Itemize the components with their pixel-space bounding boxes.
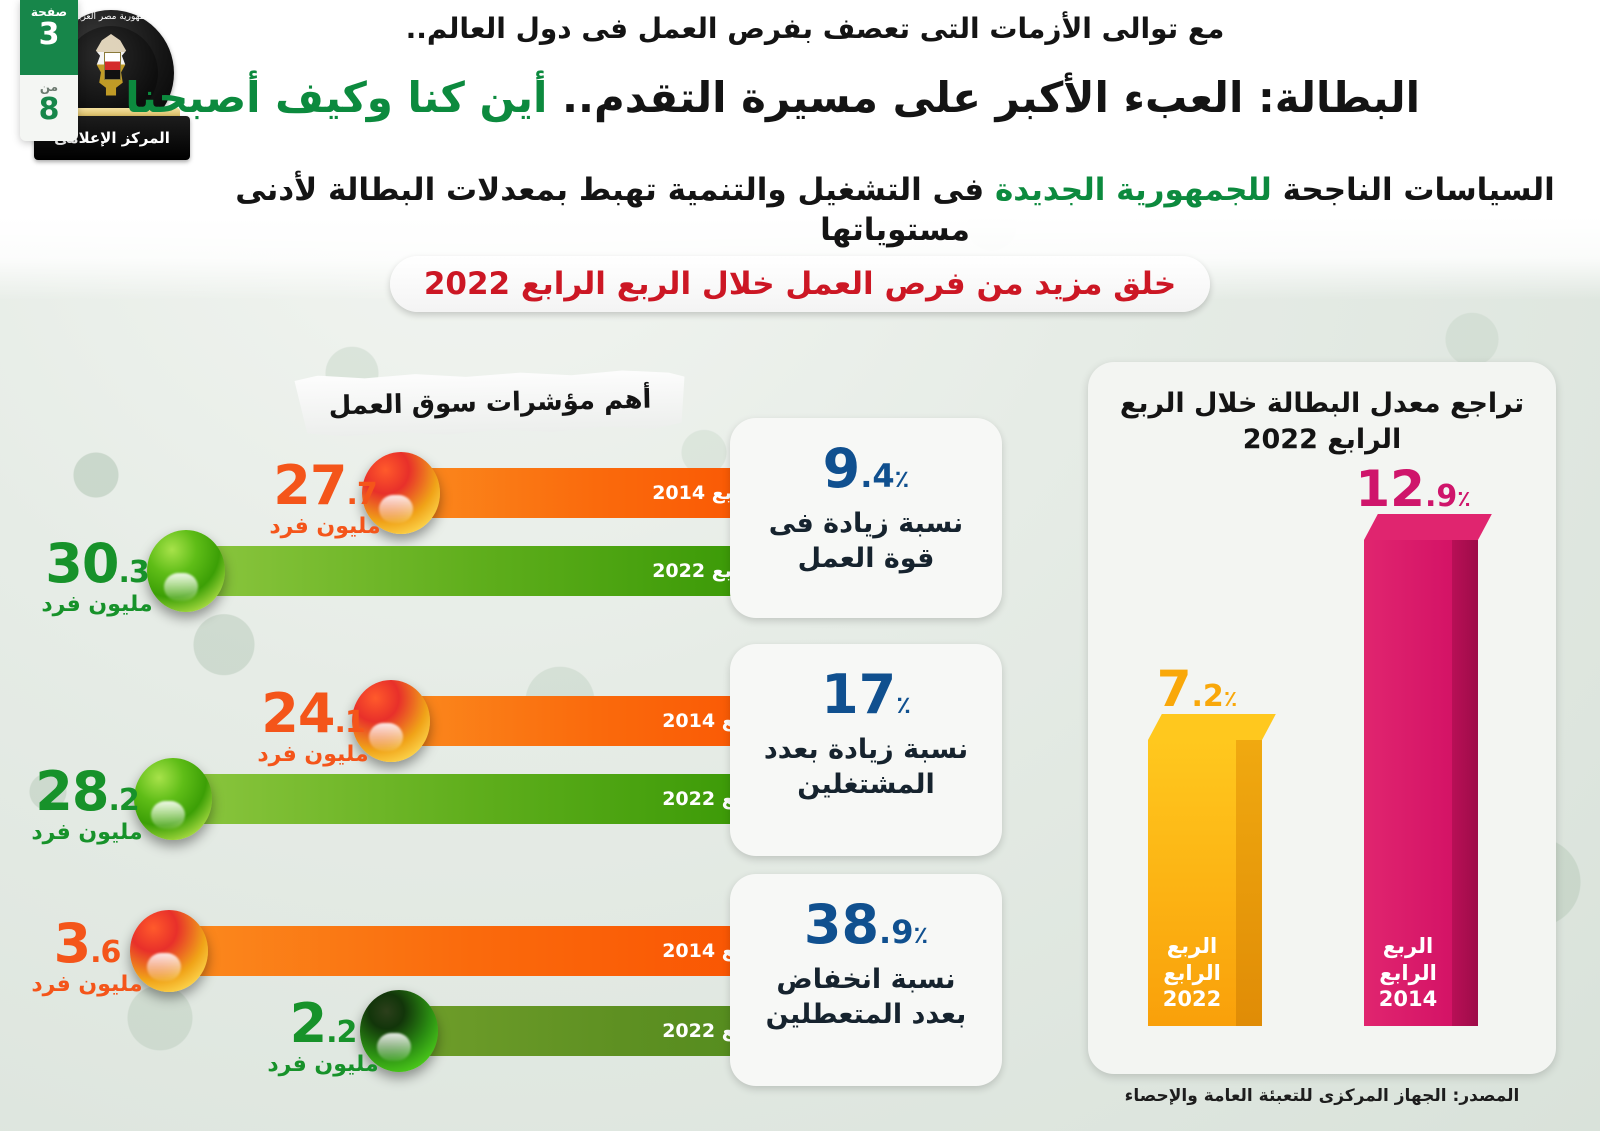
column-2022-value-int: 7 (1157, 660, 1192, 718)
page-badge-bottom: من 8 (20, 75, 78, 141)
stat-card-percent: 9.4٪ (730, 442, 1002, 496)
percent-sign-icon: ٪ (1224, 687, 1237, 712)
value-2014-int: 3 (54, 912, 91, 975)
header: جمهورية مصر العربية المركز الإعلامى مع ت… (0, 0, 1600, 250)
value-2014-dec: .1 (334, 705, 364, 740)
stat-card-description: نسبة زيادة فى قوة العمل (730, 506, 1002, 598)
page-badge-number: 3 (20, 19, 78, 51)
stat-int: 9 (823, 437, 861, 500)
stat-int: 38 (804, 893, 879, 956)
value-2022-number: 28.2 (12, 766, 162, 817)
percent-sign-icon: ٪ (896, 691, 911, 719)
value-2022: 28.2 مليون فرد (12, 766, 162, 845)
column-2022-value-dec: .2 (1192, 679, 1224, 714)
headline-accent: أين كنا وكيف أصبحنا (125, 73, 547, 122)
value-2014-unit: مليون فرد (238, 742, 388, 767)
column-2022-label-line2: 2022 (1163, 987, 1221, 1011)
headline-main: البطالة: العبء الأكبر على مسيرة التقدم.. (562, 73, 1420, 122)
subline-accent: للجمهورية الجديدة (995, 172, 1272, 208)
subline-part-a: السياسات الناجحة (1283, 172, 1555, 208)
page-badge: صفحة 3 من 8 (20, 0, 78, 148)
value-2014-number: 27.7 (250, 460, 400, 511)
column-2014-value-dec: .9 (1425, 479, 1457, 514)
column-2014-side (1452, 540, 1478, 1026)
unemployment-panel-title: تراجع معدل البطالة خلال الربع الرابع 202… (1088, 386, 1556, 459)
pill-title-text: خلق مزيد من فرص العمل خلال الربع الرابع … (424, 266, 1176, 302)
percent-sign-icon: ٪ (913, 921, 928, 949)
value-2014-number: 3.6 (12, 918, 162, 969)
value-2022: 2.2 مليون فرد (248, 998, 398, 1077)
value-2022-number: 30.3 (22, 538, 172, 589)
stat-card-unemployed: 38.9٪ نسبة انخفاض بعدد المتعطلين (730, 874, 1002, 1086)
section-pill-title: خلق مزيد من فرص العمل خلال الربع الرابع … (390, 256, 1210, 312)
value-2022-dec: .3 (118, 555, 148, 590)
value-2014-unit: مليون فرد (250, 514, 400, 539)
percent-sign-icon: ٪ (895, 465, 910, 493)
column-2022-value: 7.2٪ (1134, 664, 1260, 714)
header-subline: السياسات الناجحة للجمهورية الجديدة فى ال… (210, 170, 1580, 251)
value-2014-int: 24 (261, 682, 334, 745)
labour-indicators-label: أهم مؤشرات سوق العمل (294, 368, 685, 438)
value-2014-dec: .7 (346, 477, 376, 512)
value-2014: 24.1 مليون فرد (238, 688, 388, 767)
column-2014-value-int: 12 (1355, 460, 1425, 518)
stat-card-employed: 17٪ نسبة زيادة بعدد المشتغلين (730, 644, 1002, 856)
value-2014-dec: .6 (90, 935, 120, 970)
value-2022-int: 2 (290, 992, 327, 1055)
stat-dec: .4 (860, 457, 894, 495)
value-2022-int: 28 (35, 760, 108, 823)
infographic-canvas: جمهورية مصر العربية المركز الإعلامى مع ت… (0, 0, 1600, 1131)
stat-card-description: نسبة انخفاض بعدد المتعطلين (730, 962, 1002, 1054)
subline-part-b: فى التشغيل والتنمية تهبط بمعدلات البطالة… (235, 172, 984, 248)
stat-card-percent: 17٪ (730, 668, 1002, 722)
column-2014-label-line2: 2014 (1379, 987, 1437, 1011)
header-headline: البطالة: العبء الأكبر على مسيرة التقدم..… (210, 72, 1420, 125)
page-badge-total: 8 (20, 94, 78, 126)
header-kicker: مع توالى الأزمات التى تعصف بفرص العمل فى… (210, 10, 1420, 48)
value-2022-unit: مليون فرد (22, 592, 172, 617)
value-2014: 3.6 مليون فرد (12, 918, 162, 997)
stat-card-labour-force: 9.4٪ نسبة زيادة فى قوة العمل (730, 418, 1002, 618)
column-2014-label: الربع الرابع 2014 (1364, 933, 1452, 1012)
column-2014-label-line1: الربع الرابع (1379, 934, 1437, 984)
value-2022-unit: مليون فرد (248, 1052, 398, 1077)
column-2014-value: 12.9٪ (1350, 464, 1476, 514)
column-2022-label-line1: الربع الرابع (1163, 934, 1221, 984)
stat-dec: .9 (879, 913, 913, 951)
stat-card-description: نسبة زيادة بعدد المشتغلين (730, 732, 1002, 824)
stat-int: 17 (821, 663, 896, 726)
percent-sign-icon: ٪ (1457, 487, 1470, 512)
value-2022-int: 30 (45, 532, 118, 595)
stat-card-percent: 38.9٪ (730, 898, 1002, 952)
column-2022-side (1236, 740, 1262, 1026)
value-2014-number: 24.1 (238, 688, 388, 739)
value-2022-unit: مليون فرد (12, 820, 162, 845)
column-2022-label: الربع الرابع 2022 (1148, 933, 1236, 1012)
labour-indicators-text: أهم مؤشرات سوق العمل (328, 385, 651, 422)
page-badge-top: صفحة 3 (20, 0, 78, 75)
value-2014: 27.7 مليون فرد (250, 460, 400, 539)
value-2014-unit: مليون فرد (12, 972, 162, 997)
value-2022-number: 2.2 (248, 998, 398, 1049)
value-2014-int: 27 (273, 454, 346, 517)
unemployment-rate-panel: تراجع معدل البطالة خلال الربع الرابع 202… (1088, 362, 1556, 1074)
value-2022: 30.3 مليون فرد (22, 538, 172, 617)
source-note: المصدر: الجهاز المركزى للتعبئة العامة وا… (1088, 1086, 1556, 1106)
value-2022-dec: .2 (108, 783, 138, 818)
value-2022-dec: .2 (326, 1015, 356, 1050)
